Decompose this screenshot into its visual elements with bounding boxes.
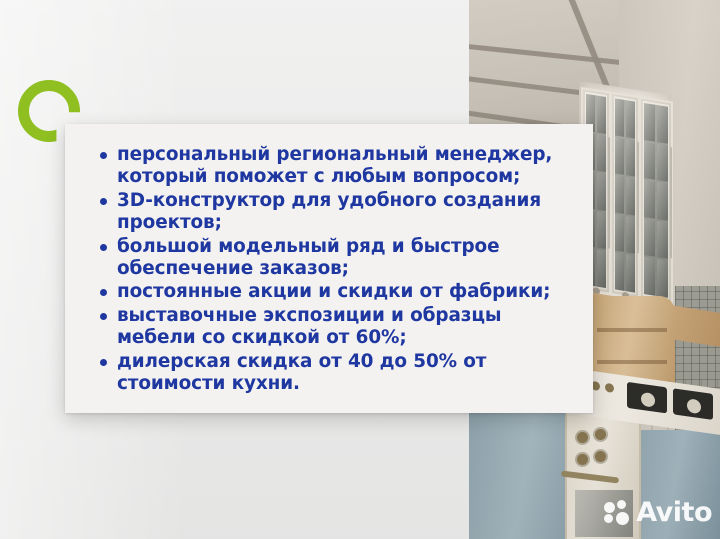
list-item: большой модельный ряд и быстрое обеспече… (93, 236, 567, 281)
avito-wordmark: Avito (636, 499, 712, 526)
benefits-list: персональный региональный менеджер, кото… (93, 144, 567, 395)
photo-oven-knob (577, 432, 588, 443)
photo-cabinet-handle (670, 147, 672, 259)
photo-oven-knob (595, 451, 606, 462)
list-item: дилерская скидка от 40 до 50% от стоимос… (93, 351, 567, 396)
photo-shelf-board (597, 360, 667, 364)
list-item: выставочные экспозиции и образцы мебели … (93, 305, 567, 350)
list-item: 3D-конструктор для удобного создания про… (93, 190, 567, 235)
avito-dots-icon (604, 500, 631, 524)
slide-root: персональный региональный менеджер, кото… (0, 0, 720, 539)
photo-cabinet-glass (615, 98, 635, 292)
list-item: постоянные акции и скидки от фабрики; (93, 281, 567, 303)
photo-shelf-board (597, 328, 667, 332)
photo-oven-knob (595, 429, 606, 440)
photo-oven-handle (561, 470, 619, 483)
photo-cabinet-door (610, 92, 640, 300)
list-item: персональный региональный менеджер, кото… (93, 144, 567, 189)
avito-watermark: Avito (604, 497, 712, 527)
photo-cabinet-glass (644, 103, 668, 298)
photo-cabinet-door (639, 96, 673, 304)
bullet-card: персональный региональный менеджер, кото… (65, 124, 593, 413)
photo-oven-knob (577, 454, 588, 465)
